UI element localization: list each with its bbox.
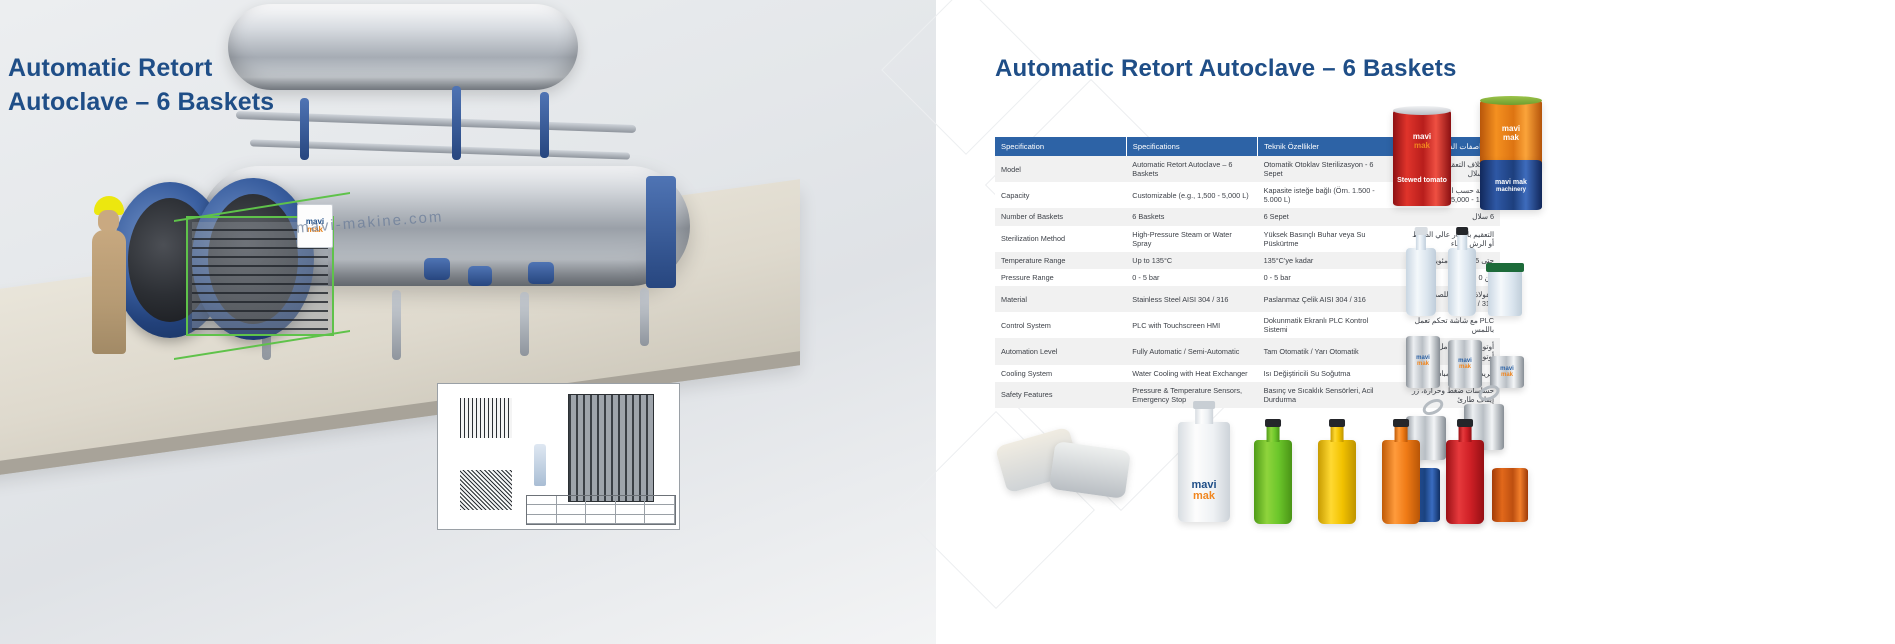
cell-en: High-Pressure Steam or Water Spray xyxy=(1126,226,1257,252)
cell-en: Customizable (e.g., 1,500 - 5,000 L) xyxy=(1126,182,1257,208)
support-leg xyxy=(392,290,401,360)
valve-block xyxy=(424,258,450,280)
title-block-cell xyxy=(527,515,557,524)
cell-tr: Dokunmatik Ekranlı PLC Kontrol Sistemi xyxy=(1258,312,1399,338)
valve-block xyxy=(528,262,554,284)
bottle-cap xyxy=(1457,419,1473,427)
stewed-tomato-can: mavi mak Stewed tomato xyxy=(1393,110,1451,206)
product-name-text: Stewed tomato xyxy=(1397,177,1447,185)
process-pipe xyxy=(236,111,636,133)
cell-en: Stainless Steel AISI 304 / 316 xyxy=(1126,286,1257,312)
cell-spec: Capacity xyxy=(995,182,1126,208)
title-block-cell xyxy=(527,505,557,514)
table-row: Number of Baskets 6 Baskets 6 Sepet 6 سل… xyxy=(995,208,1500,225)
table-row: Control System PLC with Touchscreen HMI … xyxy=(995,312,1500,338)
cell-ar: 6 سلال xyxy=(1399,208,1500,225)
stainless-can-tall: mavi mak xyxy=(1406,336,1440,388)
cell-en: Up to 135°C xyxy=(1126,252,1257,269)
tilted-tuna-can-front xyxy=(1049,441,1131,499)
title-block-cell xyxy=(586,496,616,505)
title-block-cell xyxy=(616,515,646,524)
cell-tr: Otomatik Otoklav Sterilizasyon - 6 Sepet xyxy=(1258,156,1399,182)
can-brand-mark: mavi mak xyxy=(1448,356,1482,370)
column-header-specification: Specification xyxy=(995,137,1126,156)
cell-en: 0 - 5 bar xyxy=(1126,269,1257,286)
right-spec-panel: Automatic Retort Autoclave – 6 Baskets S… xyxy=(936,0,1895,644)
cell-spec: Pressure Range xyxy=(995,269,1126,286)
left-page-title: Automatic Retort Autoclave – 6 Baskets xyxy=(8,52,274,120)
brand-text: mavi mak xyxy=(1495,179,1527,187)
brand-text-bottom: mak xyxy=(1414,142,1430,151)
left-hero-panel: Automatic Retort Autoclave – 6 Baskets xyxy=(0,0,936,644)
cell-spec: Material xyxy=(995,286,1126,312)
cell-spec: Number of Baskets xyxy=(995,208,1126,225)
stainless-can-medium: mavi mak xyxy=(1448,340,1482,388)
column-header-specifications-en: Specifications xyxy=(1126,137,1257,156)
retail-can-orange xyxy=(1492,468,1528,522)
title-block-cell xyxy=(586,505,616,514)
cell-en: PLC with Touchscreen HMI xyxy=(1126,312,1257,338)
cell-spec: Control System xyxy=(995,312,1126,338)
juice-bottle-pomegranate xyxy=(1446,440,1484,524)
bottle-cap xyxy=(1415,227,1428,235)
can-lid-open xyxy=(1480,96,1542,105)
cell-spec: Sterilization Method xyxy=(995,226,1126,252)
column-header-teknik-ozellikler: Teknik Özellikler xyxy=(1258,137,1399,156)
title-block-cell xyxy=(645,505,675,514)
cell-ar: PLC مع شاشة تحكم تعمل باللمس xyxy=(1399,312,1500,338)
cell-en: 6 Baskets xyxy=(1126,208,1257,225)
stainless-can-short: mavi mak xyxy=(1490,356,1524,388)
blue-process-pipe xyxy=(300,98,309,160)
cell-tr: Tam Otomatik / Yarı Otomatik xyxy=(1258,338,1399,364)
juice-bottle-orange xyxy=(1382,440,1420,524)
cell-en: Water Cooling with Heat Exchanger xyxy=(1126,365,1257,382)
cell-tr: 135°C'ye kadar xyxy=(1258,252,1399,269)
operator-head xyxy=(98,210,119,232)
can-brand-mark: mavi mak xyxy=(1406,354,1440,370)
support-leg xyxy=(640,288,649,346)
cell-en: Fully Automatic / Semi-Automatic xyxy=(1126,338,1257,364)
technical-drawing-sheet xyxy=(437,383,680,530)
title-block-cell xyxy=(527,496,557,505)
blue-process-pipe xyxy=(452,86,461,160)
product-datasheet-page: Automatic Retort Autoclave – 6 Baskets xyxy=(0,0,1895,644)
brand-text-bottom: mak xyxy=(1178,491,1230,502)
operator-figure xyxy=(88,196,134,354)
brand-text-bottom: mak xyxy=(1503,134,1519,143)
steam-accumulator-tank xyxy=(228,4,578,90)
brand-text-bottom: mak xyxy=(1417,361,1429,367)
blue-machinery-can: mavi mak machinery xyxy=(1480,160,1542,210)
juice-bottle-lemon xyxy=(1318,440,1356,524)
cell-spec: Safety Features xyxy=(995,382,1126,408)
heat-exchanger-module xyxy=(646,176,676,288)
bottle-cap xyxy=(1393,419,1409,427)
valve-block xyxy=(468,266,492,286)
cell-en: Pressure & Temperature Sensors, Emergenc… xyxy=(1126,382,1257,408)
operator-body xyxy=(92,230,126,354)
bottle-cap xyxy=(1193,401,1215,409)
brand-text-bottom: mak xyxy=(1459,364,1471,370)
drawing-basket-front-view xyxy=(460,398,512,438)
cell-spec: Model xyxy=(995,156,1126,182)
title-block-cell xyxy=(616,496,646,505)
cell-tr: 6 Sepet xyxy=(1258,208,1399,225)
can-label: mavi mak Stewed tomato xyxy=(1393,118,1451,200)
cell-tr: 0 - 5 bar xyxy=(1258,269,1399,286)
product-name-text: machinery xyxy=(1496,187,1526,194)
bottle-cap xyxy=(1265,419,1281,427)
can-lid xyxy=(1393,106,1451,115)
glass-bottle-tall xyxy=(1406,248,1436,316)
milk-bottle: mavi mak xyxy=(1178,422,1230,522)
cell-tr: Basınç ve Sıcaklık Sensörleri, Acil Durd… xyxy=(1258,382,1399,408)
drawing-bottle-reference xyxy=(534,444,546,486)
cell-tr: Kapasite isteğe bağlı (Örn. 1.500 - 5.00… xyxy=(1258,182,1399,208)
cell-tr: Paslanmaz Çelik AISI 304 / 316 xyxy=(1258,286,1399,312)
title-block-cell xyxy=(645,496,675,505)
title-block-cell xyxy=(557,505,587,514)
title-block-cell xyxy=(645,515,675,524)
title-block-cell xyxy=(586,515,616,524)
blue-process-pipe xyxy=(540,92,549,158)
cell-tr: Yüksek Basınçlı Buhar veya Su Püskürtme xyxy=(1258,226,1399,252)
cell-spec: Temperature Range xyxy=(995,252,1126,269)
glass-jar-green-lid xyxy=(1488,270,1522,316)
cell-en: Automatic Retort Autoclave – 6 Baskets xyxy=(1126,156,1257,182)
can-label: mavi mak machinery xyxy=(1480,168,1542,204)
drawing-title-block xyxy=(526,495,676,525)
brand-text-bottom: mak xyxy=(1501,372,1513,378)
support-leg xyxy=(520,292,529,356)
bottle-cap xyxy=(1329,419,1345,427)
cell-tr: Isı Değiştiricili Su Soğutma xyxy=(1258,365,1399,382)
drawing-basket-mesh-detail xyxy=(460,470,512,510)
milk-bottle-label: mavi mak xyxy=(1178,480,1230,502)
title-block-cell xyxy=(557,515,587,524)
glass-bottle-black-cap xyxy=(1448,248,1476,316)
cell-spec: Cooling System xyxy=(995,365,1126,382)
cell-spec: Automation Level xyxy=(995,338,1126,364)
page-title: Automatic Retort Autoclave – 6 Baskets xyxy=(995,55,1457,83)
bottle-cap xyxy=(1456,227,1468,235)
title-block-cell xyxy=(616,505,646,514)
peas-can: mavi mak xyxy=(1480,100,1542,166)
can-label: mavi mak xyxy=(1480,108,1542,160)
can-brand-mark: mavi mak xyxy=(1490,367,1524,377)
drawing-loaded-basket-isometric xyxy=(568,394,654,502)
title-block-cell xyxy=(557,496,587,505)
juice-bottle-kiwi xyxy=(1254,440,1292,524)
jar-lid xyxy=(1486,263,1524,272)
